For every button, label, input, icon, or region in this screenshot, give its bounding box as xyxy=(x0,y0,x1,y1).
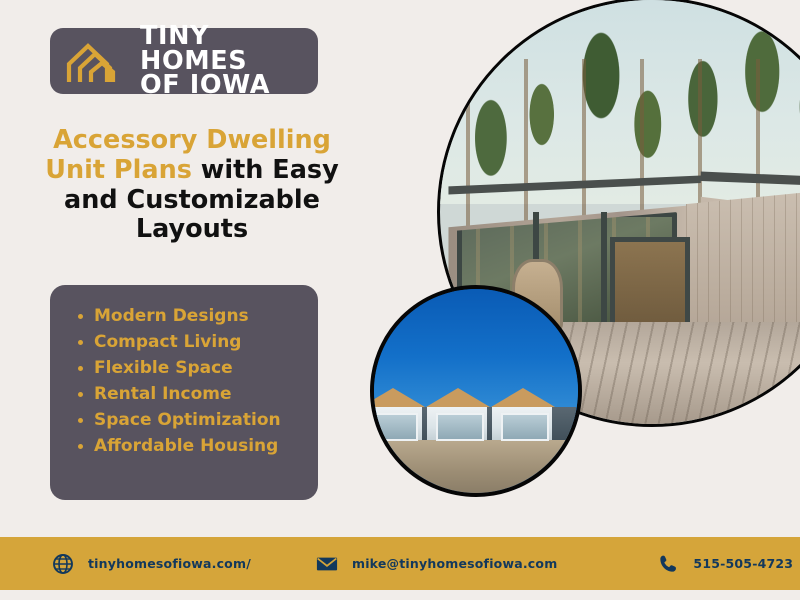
beach-cabin xyxy=(492,407,553,440)
footer-phone[interactable]: 515-505-4723 xyxy=(657,553,793,575)
list-item: Rental Income xyxy=(78,381,318,407)
beach-cabin xyxy=(370,407,423,440)
feature-label: Compact Living xyxy=(94,332,241,352)
beach-cabin xyxy=(427,407,488,440)
envelope-icon xyxy=(316,553,338,575)
bullet-dot-icon xyxy=(78,366,83,371)
brand-logo[interactable]: TINY HOMES OF IOWA xyxy=(50,28,318,94)
cabin-front xyxy=(492,407,553,440)
website-text: tinyhomesofiowa.com/ xyxy=(88,556,251,571)
page-title: Accessory Dwelling Unit Plans with Easy … xyxy=(42,126,342,245)
cabin-gable xyxy=(426,388,490,407)
feature-label: Flexible Space xyxy=(94,358,233,378)
cabin-gable xyxy=(370,388,425,407)
photo-small-scene xyxy=(374,289,578,493)
contact-footer: tinyhomesofiowa.com/ mike@tinyhomesofiow… xyxy=(0,537,800,590)
globe-icon xyxy=(52,553,74,575)
bullet-dot-icon xyxy=(78,418,83,423)
cabin-gable xyxy=(491,388,555,407)
cabin-front xyxy=(370,407,423,440)
list-item: Affordable Housing xyxy=(78,433,318,459)
bullet-dot-icon xyxy=(78,392,83,397)
features-panel: Modern Designs Compact Living Flexible S… xyxy=(50,285,318,500)
bullet-dot-icon xyxy=(78,444,83,449)
list-item: Flexible Space xyxy=(78,355,318,381)
sand-beach xyxy=(374,440,578,493)
features-list: Modern Designs Compact Living Flexible S… xyxy=(78,303,318,459)
list-item: Space Optimization xyxy=(78,407,318,433)
phone-icon xyxy=(657,553,679,575)
feature-label: Space Optimization xyxy=(94,410,281,430)
bullet-dot-icon xyxy=(78,340,83,345)
logo-wordmark: TINY HOMES OF IOWA xyxy=(140,24,318,98)
logo-line-2: OF IOWA xyxy=(140,73,318,98)
footer-website[interactable]: tinyhomesofiowa.com/ xyxy=(52,553,251,575)
list-item: Compact Living xyxy=(78,329,318,355)
cabin-front xyxy=(427,407,488,440)
photo-beach-cabins xyxy=(370,285,582,497)
bullet-dot-icon xyxy=(78,314,83,319)
feature-label: Rental Income xyxy=(94,384,232,404)
poster-canvas: TINY HOMES OF IOWA Accessory Dwelling Un… xyxy=(0,0,800,600)
phone-text: 515-505-4723 xyxy=(693,556,793,571)
list-item: Modern Designs xyxy=(78,303,318,329)
footer-email[interactable]: mike@tinyhomesofiowa.com xyxy=(316,553,557,575)
feature-label: Affordable Housing xyxy=(94,436,278,456)
logo-line-1: TINY HOMES xyxy=(140,24,318,73)
nested-house-roof-icon xyxy=(66,38,128,84)
cabin-side xyxy=(552,407,575,440)
email-text: mike@tinyhomesofiowa.com xyxy=(352,556,557,571)
feature-label: Modern Designs xyxy=(94,306,249,326)
